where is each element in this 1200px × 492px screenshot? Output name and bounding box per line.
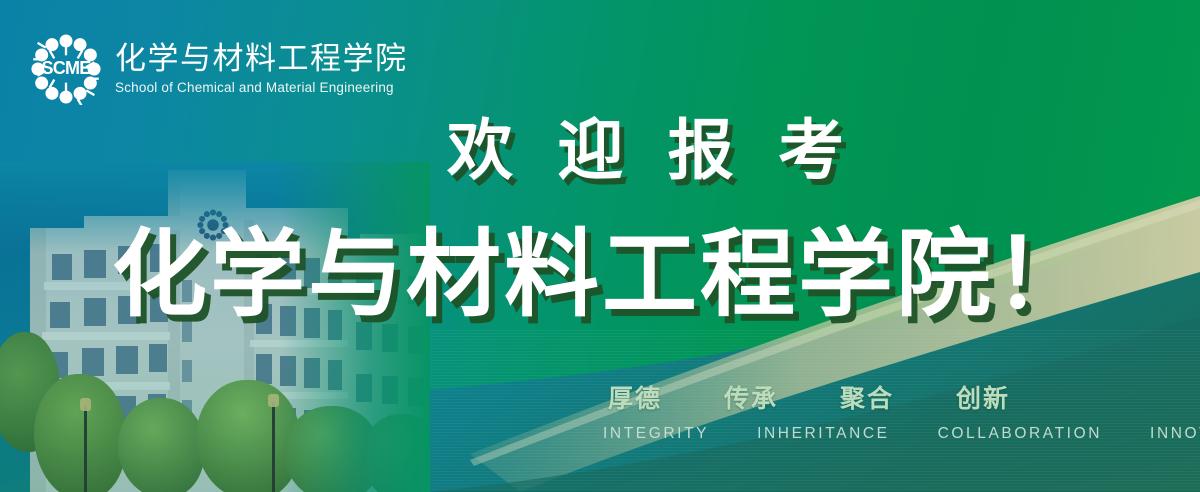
admissions-banner: SCME 化学与材料工程学院 School of Chemical and Ma… bbox=[0, 0, 1200, 492]
headline-line-1: 欢 迎 报 考 bbox=[447, 117, 857, 183]
slogan-cn-3: 聚合 bbox=[840, 379, 894, 415]
slogan-en-2: INHERITANCE bbox=[757, 425, 890, 443]
slogan-en-1: INTEGRITY bbox=[603, 425, 709, 443]
slogan-cn-1: 厚德 bbox=[608, 379, 662, 415]
scme-logo-icon: SCME bbox=[30, 33, 102, 105]
school-logo-lockup[interactable]: SCME 化学与材料工程学院 School of Chemical and Ma… bbox=[30, 33, 408, 105]
slogan-cn-2: 传承 bbox=[724, 379, 778, 415]
slogan-en-4: INNOVATION bbox=[1150, 425, 1200, 443]
logo-title-cn: 化学与材料工程学院 bbox=[115, 42, 408, 77]
slogan-english: INTEGRITY INHERITANCE COLLABORATION INNO… bbox=[603, 425, 1200, 443]
logo-title-en: School of Chemical and Material Engineer… bbox=[115, 80, 408, 96]
slogan-cn-4: 创新 bbox=[956, 379, 1010, 415]
headline-line-2: 化学与材料工程学院！ bbox=[112, 228, 1092, 323]
slogan-en-3: COLLABORATION bbox=[938, 425, 1102, 443]
slogan-chinese: 厚德 传承 聚合 创新 bbox=[608, 379, 1010, 415]
svg-text:SCME: SCME bbox=[41, 58, 91, 78]
logo-text-block: 化学与材料工程学院 School of Chemical and Materia… bbox=[115, 42, 408, 96]
